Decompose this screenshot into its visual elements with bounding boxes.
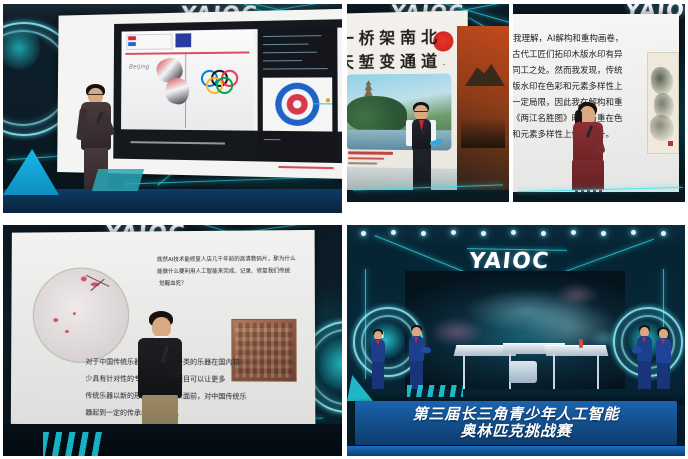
photo-4-boy-instrument-restoration-slide: YAIOC 既然AI技术能修复人店几千年前的高清 xyxy=(3,225,342,456)
slide-body-line-1: 我理解，AI解构和重构画卷， xyxy=(513,32,623,44)
blue-tracksuit-pants xyxy=(372,362,384,392)
stage-light-bulb xyxy=(631,230,636,235)
teal-chevron-decor xyxy=(43,432,103,456)
data-line xyxy=(263,60,303,62)
photo-3-girl-ai-painting-slide: YAIOC 我理解，AI解构和重构画卷， 古代工匠们拓印木版水印有异 同工之处。… xyxy=(513,4,685,202)
stage-light-bulb xyxy=(601,231,606,236)
scoreboard-badge xyxy=(175,33,191,47)
stage-light-bulb xyxy=(421,231,426,236)
artifact-circle-image xyxy=(33,267,130,363)
stage-light-bulb xyxy=(451,230,456,235)
data-line xyxy=(263,52,317,54)
banner-line-2: 奥林匹克挑战赛 xyxy=(460,423,571,440)
stage-light-bulb xyxy=(541,231,546,236)
inkwash-orange-panel xyxy=(457,26,509,192)
scoreboard-flag-blue xyxy=(128,42,136,46)
sweep-guide-line xyxy=(125,51,249,54)
stage-floor xyxy=(347,190,509,202)
stage-truss xyxy=(347,225,685,251)
photo-collage: YAIOC xyxy=(0,0,688,459)
arm xyxy=(421,346,432,353)
scoreboard-flag-red xyxy=(128,36,136,40)
banner-bottom-edge xyxy=(347,446,685,456)
contestant-figure xyxy=(367,329,389,397)
head xyxy=(580,106,595,123)
beijing-watermark: Beijing xyxy=(129,64,150,70)
ink-foliage xyxy=(650,115,674,141)
slide-body-line-4: 版水印在色彩和元素多样性上 xyxy=(513,80,623,92)
stage-light-bulb xyxy=(391,230,396,235)
ink-scroll-artwork xyxy=(647,52,679,154)
glasses-icon xyxy=(414,111,428,114)
presenter-figure xyxy=(567,102,609,202)
slide-body-line-3: 同工之处。然而我发现，传统 xyxy=(513,64,623,76)
ink-mountain xyxy=(651,67,673,95)
reeds-silhouette xyxy=(461,118,505,148)
slide-top-line-3: 觉醒血死？ xyxy=(159,279,187,287)
foliage xyxy=(347,96,407,132)
olympic-ring-green xyxy=(216,77,233,94)
teal-panel-decor xyxy=(92,169,144,191)
curling-video-frame: Beijing xyxy=(121,29,254,131)
banner-line-1: 第三届长三角青少年人工智能 xyxy=(413,406,620,423)
slide-body-line-2: 古代工匠们拓印木版水印有异 xyxy=(513,48,623,60)
stone-relief-image xyxy=(231,319,296,382)
head xyxy=(152,317,171,338)
device-indicator xyxy=(579,339,583,348)
analysis-data-panel xyxy=(258,28,338,163)
nebula-cloud xyxy=(429,317,485,347)
stage-light-bulb xyxy=(481,231,486,236)
teal-chevron-decor xyxy=(407,385,463,397)
stage-light-bulb xyxy=(511,230,516,235)
pigment-splash xyxy=(53,318,58,322)
photo-1-boy-curling-slide: YAIOC xyxy=(3,4,342,213)
data-line xyxy=(263,68,328,70)
trajectory-line xyxy=(313,103,332,104)
data-line xyxy=(263,44,309,46)
curling-house-target xyxy=(263,77,333,131)
olympic-rings-icon xyxy=(201,70,252,94)
glasses-icon xyxy=(88,94,103,97)
slide-top-line-1: 既然AI技术能修复人店几千年前的高清数码片，那为什么 xyxy=(157,254,296,263)
pigment-splash xyxy=(81,276,87,281)
pigment-splash xyxy=(65,330,69,333)
data-line xyxy=(263,35,322,37)
competition-device xyxy=(509,361,537,383)
legend-line xyxy=(264,139,281,141)
slide-warning-line xyxy=(278,166,333,169)
photo-2-boy-bridge-slide: YAIOC 一桥架南北 天堑变通道 ⌃ ⌃ ⌄ ⌃ xyxy=(347,4,509,202)
desk-leg xyxy=(597,355,599,393)
house-button-center xyxy=(293,100,301,108)
desk-leg xyxy=(463,355,465,393)
stage-light-bulb xyxy=(361,231,366,236)
stone-marker xyxy=(326,98,330,102)
slide-headline-line-1: 一桥架南北 xyxy=(347,23,442,49)
pigment-splash xyxy=(73,312,76,315)
scroll-seal xyxy=(668,141,673,146)
stage-light-bulb xyxy=(571,230,576,235)
photo-5-final-round-stage: YAIOC AI xyxy=(347,225,685,456)
desk-leg xyxy=(553,353,555,393)
stage-floor xyxy=(513,192,685,202)
slide-top-line-2: 能做什么要利用人工智能来完成、记录、修复我们传统 xyxy=(157,266,290,275)
nebula-cloud xyxy=(555,283,599,307)
event-banner: 第三届长三角青少年人工智能 奥林匹克挑战赛 xyxy=(355,401,677,445)
stage-light-bulb xyxy=(661,231,666,236)
birds-motif: ⌃ ⌃ ⌄ ⌃ xyxy=(413,64,448,70)
